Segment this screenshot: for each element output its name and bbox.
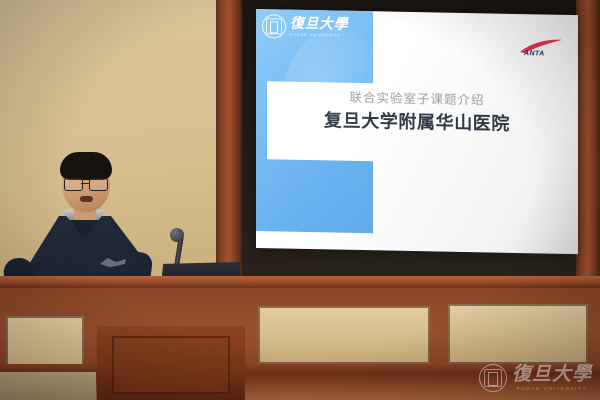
anta-wordmark: ANTA	[524, 50, 545, 57]
fudan-seal-icon	[262, 14, 286, 38]
wood-trim-right	[576, 0, 600, 300]
glasses-left-lens	[64, 178, 83, 191]
wainscot-ledge	[0, 276, 600, 288]
wood-trim-left	[216, 0, 242, 300]
glasses-icon	[64, 178, 108, 189]
glasses-bridge	[81, 183, 89, 184]
watermark-en: FUDAN UNIVERSITY	[517, 386, 587, 391]
fudan-logo-cn: 復旦大學	[290, 17, 348, 32]
speaker-mouth	[80, 196, 93, 202]
podium-front-panel-2	[112, 336, 230, 394]
watermark-seal-icon	[479, 364, 507, 392]
wall-inset-panel	[258, 306, 430, 364]
speaker-hair	[60, 152, 112, 180]
fudan-university-watermark: 復旦大學 FUDAN UNIVERSITY	[479, 364, 592, 392]
fudan-logo-en: FUDAN UNIVERSITY	[290, 32, 348, 37]
photo-scene: 復旦大學 FUDAN UNIVERSITY ANTA 联合实验室子课题介绍 复旦…	[0, 0, 600, 400]
presentation-slide: 復旦大學 FUDAN UNIVERSITY ANTA 联合实验室子课题介绍 复旦…	[256, 9, 578, 254]
microphone-icon	[170, 228, 184, 242]
floor-left-area	[0, 372, 96, 400]
glasses-right-lens	[89, 178, 108, 191]
fudan-university-logo: 復旦大學 FUDAN UNIVERSITY	[262, 14, 348, 40]
anta-logo: ANTA	[518, 38, 564, 63]
wall-inset-panel	[448, 304, 588, 364]
watermark-cn: 復旦大學	[512, 365, 592, 384]
